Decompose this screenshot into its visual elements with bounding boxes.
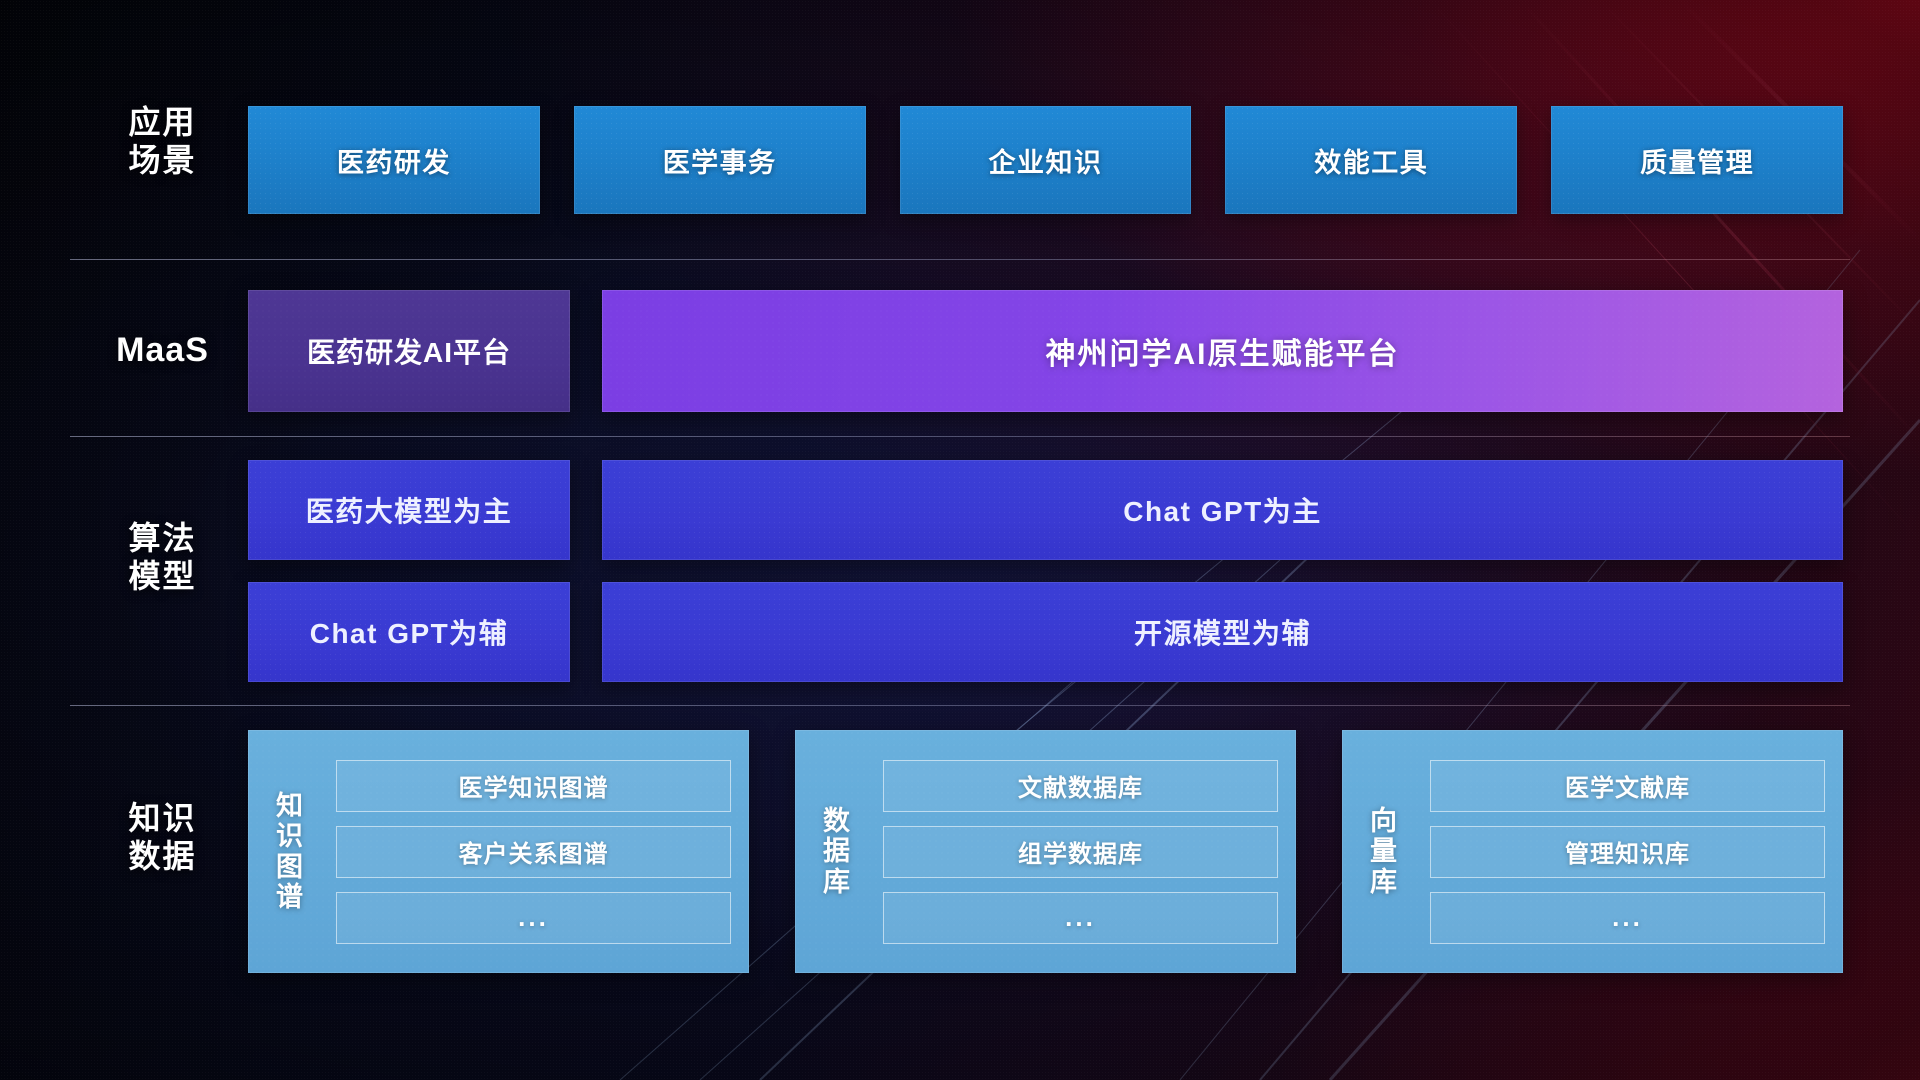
alg-box-label: Chat GPT为辅 [310, 612, 509, 652]
maas-box-label: 医药研发AI平台 [307, 331, 511, 371]
knowledge-item[interactable]: 医学文献库 [1430, 760, 1825, 812]
knowledge-item[interactable]: 组学数据库 [883, 826, 1278, 878]
application-scenarios-track: 医药研发 医学事务 企业知识 效能工具 质量管理 [248, 106, 1843, 214]
knowledge-item[interactable]: 医学知识图谱 [336, 760, 731, 812]
app-box-label: 医药研发 [337, 141, 451, 180]
side-label-char: 据 [823, 836, 851, 866]
side-label-char: 图 [276, 852, 304, 882]
app-box-label: 医学事务 [663, 141, 777, 180]
tier-label-algorithm-models: 算法 模型 [70, 520, 255, 596]
side-label-char: 向 [1370, 806, 1398, 836]
app-box-enterprise-knowledge[interactable]: 企业知识 [900, 106, 1192, 214]
architecture-diagram: 应用 场景 医药研发 医学事务 企业知识 效能工具 质量管理 MaaS [0, 0, 1920, 1080]
app-box-label: 效能工具 [1314, 141, 1428, 180]
side-label-char: 库 [1370, 867, 1398, 897]
alg-box-label: Chat GPT为主 [1123, 490, 1322, 530]
tier-label-application-scenarios: 应用 场景 [70, 104, 255, 180]
maas-track: 医药研发AI平台 神州问学AI原生赋能平台 [248, 290, 1843, 412]
divider-1 [70, 259, 1850, 260]
divider-3 [70, 705, 1850, 706]
app-box-medical-rd[interactable]: 医药研发 [248, 106, 540, 214]
knowledge-group-knowledge-graph[interactable]: 知 识 图 谱 医学知识图谱 客户关系图谱 ... [248, 730, 749, 973]
divider-2 [70, 436, 1850, 437]
knowledge-item-more[interactable]: ... [336, 892, 731, 944]
algorithm-models-track: 医药大模型为主 Chat GPT为主 Chat GPT为辅 开源模型为辅 [248, 460, 1843, 682]
maas-box-label: 神州问学AI原生赋能平台 [1046, 329, 1400, 373]
tier-label-line: 应用 [70, 104, 255, 142]
alg-box-medical-llm-primary[interactable]: 医药大模型为主 [248, 460, 570, 560]
knowledge-group-vector-store[interactable]: 向 量 库 医学文献库 管理知识库 ... [1342, 730, 1843, 973]
side-label-char: 数 [823, 806, 851, 836]
knowledge-data-track: 知 识 图 谱 医学知识图谱 客户关系图谱 ... 数 据 库 [248, 730, 1843, 973]
maas-box-shenzhou-wenxue-platform[interactable]: 神州问学AI原生赋能平台 [602, 290, 1843, 412]
knowledge-item-more[interactable]: ... [1430, 892, 1825, 944]
tier-label-line: MaaS [70, 330, 255, 370]
side-label-char: 识 [276, 821, 304, 851]
app-box-medical-affairs[interactable]: 医学事务 [574, 106, 866, 214]
tier-label-line: 数据 [70, 838, 255, 876]
knowledge-group-side-label: 向 量 库 [1352, 746, 1416, 957]
tier-label-knowledge-data: 知识 数据 [70, 800, 255, 876]
alg-box-label: 医药大模型为主 [306, 490, 513, 530]
side-label-char: 量 [1370, 836, 1398, 866]
app-box-efficiency-tools[interactable]: 效能工具 [1225, 106, 1517, 214]
tier-label-line: 模型 [70, 558, 255, 596]
side-label-char: 谱 [276, 882, 304, 912]
alg-box-chatgpt-primary[interactable]: Chat GPT为主 [602, 460, 1843, 560]
knowledge-item[interactable]: 管理知识库 [1430, 826, 1825, 878]
alg-box-chatgpt-secondary[interactable]: Chat GPT为辅 [248, 582, 570, 682]
knowledge-group-side-label: 数 据 库 [805, 746, 869, 957]
app-box-label: 质量管理 [1640, 141, 1754, 180]
tier-label-line: 知识 [70, 800, 255, 838]
knowledge-group-side-label: 知 识 图 谱 [258, 746, 322, 957]
tier-label-line: 场景 [70, 142, 255, 180]
algorithm-row-secondary: Chat GPT为辅 开源模型为辅 [248, 582, 1843, 682]
alg-box-label: 开源模型为辅 [1134, 612, 1311, 652]
alg-box-opensource-secondary[interactable]: 开源模型为辅 [602, 582, 1843, 682]
app-box-quality-management[interactable]: 质量管理 [1551, 106, 1843, 214]
side-label-char: 库 [823, 867, 851, 897]
knowledge-item-list: 医学文献库 管理知识库 ... [1430, 746, 1825, 957]
tier-label-maas: MaaS [70, 330, 255, 370]
knowledge-item-list: 医学知识图谱 客户关系图谱 ... [336, 746, 731, 957]
algorithm-row-primary: 医药大模型为主 Chat GPT为主 [248, 460, 1843, 560]
knowledge-item-list: 文献数据库 组学数据库 ... [883, 746, 1278, 957]
knowledge-item-more[interactable]: ... [883, 892, 1278, 944]
maas-box-medical-ai-platform[interactable]: 医药研发AI平台 [248, 290, 570, 412]
knowledge-group-database[interactable]: 数 据 库 文献数据库 组学数据库 ... [795, 730, 1296, 973]
app-box-label: 企业知识 [988, 141, 1102, 180]
knowledge-item[interactable]: 客户关系图谱 [336, 826, 731, 878]
tier-label-line: 算法 [70, 520, 255, 558]
knowledge-item[interactable]: 文献数据库 [883, 760, 1278, 812]
side-label-char: 知 [276, 791, 304, 821]
